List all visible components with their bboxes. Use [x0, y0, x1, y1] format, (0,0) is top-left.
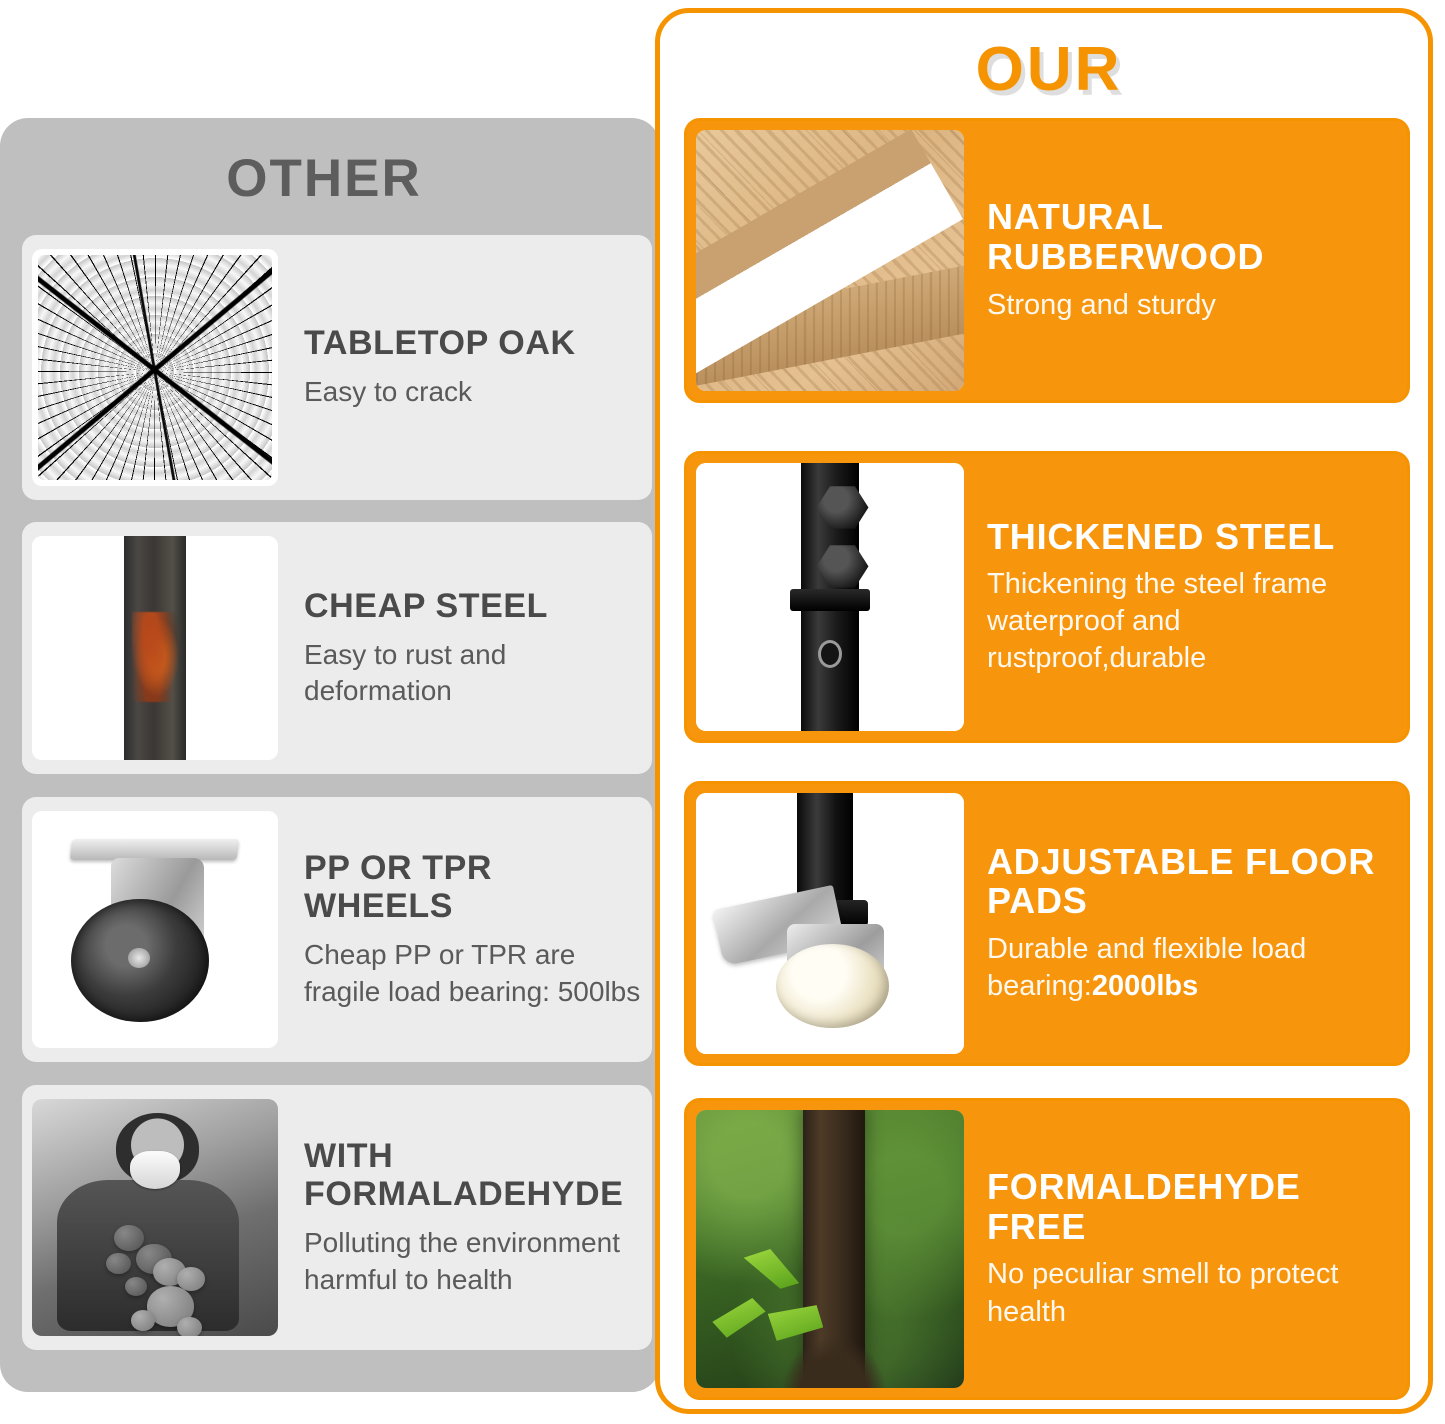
other-row-description: Polluting the environment harmful to hea… — [304, 1225, 644, 1298]
our-row-description-text: Thickening the steel frame waterproof an… — [987, 568, 1327, 674]
our-row-heading: NATURAL RUBBERWOOD — [987, 197, 1393, 276]
other-row-text: CHEAP STEEL Easy to rust and deformation — [304, 522, 644, 774]
other-row-text: TABLETOP OAK Easy to crack — [304, 235, 644, 500]
other-row-pp-tpr-wheels: PP OR TPR WHEELS Cheap PP or TPR are fra… — [22, 797, 652, 1062]
our-row-description-text: No peculiar smell to protect health — [987, 1258, 1338, 1327]
our-row-text: ADJUSTABLE FLOOR PADS Durable and flexib… — [987, 784, 1393, 1063]
worker-with-mask-formaldehyde-molecule-image — [32, 1099, 278, 1336]
our-row-formaldehyde-free: FORMALDEHYDE FREE No peculiar smell to p… — [684, 1098, 1410, 1400]
dust-mask-icon — [130, 1151, 179, 1189]
comparison-infographic: OTHER TABLETOP OAK Easy to crack CHEAP S… — [0, 0, 1445, 1424]
our-row-thickened-steel: THICKENED STEEL Thickening the steel fra… — [684, 451, 1410, 743]
our-row-description: Thickening the steel frame waterproof an… — [987, 566, 1393, 677]
other-row-text: PP OR TPR WHEELS Cheap PP or TPR are fra… — [304, 797, 644, 1062]
caster-wheel-image — [32, 811, 278, 1048]
cracked-oak-endgrain-image — [32, 249, 278, 486]
other-panel-title: OTHER — [0, 152, 648, 205]
other-row-with-formaldehyde: WITH FORMALADEHYDE Polluting the environ… — [22, 1085, 652, 1350]
our-row-text: THICKENED STEEL Thickening the steel fra… — [987, 454, 1393, 740]
our-panel-title: OUR — [660, 39, 1438, 101]
other-row-description: Cheap PP or TPR are fragile load bearing… — [304, 937, 644, 1010]
adjustable-floor-pad-caster-image — [696, 793, 964, 1054]
other-row-cheap-steel: CHEAP STEEL Easy to rust and deformation — [22, 522, 652, 774]
other-row-description: Easy to crack — [304, 374, 644, 410]
forest-tree-recycle-image — [696, 1110, 964, 1388]
other-row-heading: PP OR TPR WHEELS — [304, 849, 644, 925]
our-row-text: FORMALDEHYDE FREE No peculiar smell to p… — [987, 1101, 1393, 1397]
our-row-heading: FORMALDEHYDE FREE — [987, 1167, 1393, 1246]
formaldehyde-molecule-icon — [106, 1218, 244, 1337]
other-row-heading: TABLETOP OAK — [304, 324, 644, 362]
rusty-steel-bar-image — [32, 536, 278, 760]
recycle-icon — [715, 1249, 836, 1366]
our-row-description: No peculiar smell to protect health — [987, 1256, 1393, 1330]
our-row-description: Durable and flexible load bearing:2000lb… — [987, 931, 1393, 1005]
our-row-adjustable-floor-pads: ADJUSTABLE FLOOR PADS Durable and flexib… — [684, 781, 1410, 1066]
our-panel: OUR NATURAL RUBBERWOOD Strong and sturdy — [655, 8, 1433, 1414]
thickened-steel-post-image — [696, 463, 964, 731]
our-row-natural-rubberwood: NATURAL RUBBERWOOD Strong and sturdy — [684, 118, 1410, 403]
rubberwood-tabletop-corner-image — [696, 130, 964, 391]
other-row-heading: CHEAP STEEL — [304, 587, 644, 625]
other-row-text: WITH FORMALADEHYDE Polluting the environ… — [304, 1085, 644, 1350]
other-row-description: Easy to rust and deformation — [304, 637, 644, 710]
our-row-description: Strong and sturdy — [987, 287, 1393, 324]
our-row-text: NATURAL RUBBERWOOD Strong and sturdy — [987, 121, 1393, 400]
other-row-heading: WITH FORMALADEHYDE — [304, 1137, 644, 1213]
our-row-heading: THICKENED STEEL — [987, 517, 1393, 557]
our-row-description-emphasis: 2000lbs — [1092, 970, 1198, 1002]
other-row-tabletop-oak: TABLETOP OAK Easy to crack — [22, 235, 652, 500]
our-row-description-text: Strong and sturdy — [987, 289, 1216, 321]
our-row-heading: ADJUSTABLE FLOOR PADS — [987, 842, 1393, 921]
